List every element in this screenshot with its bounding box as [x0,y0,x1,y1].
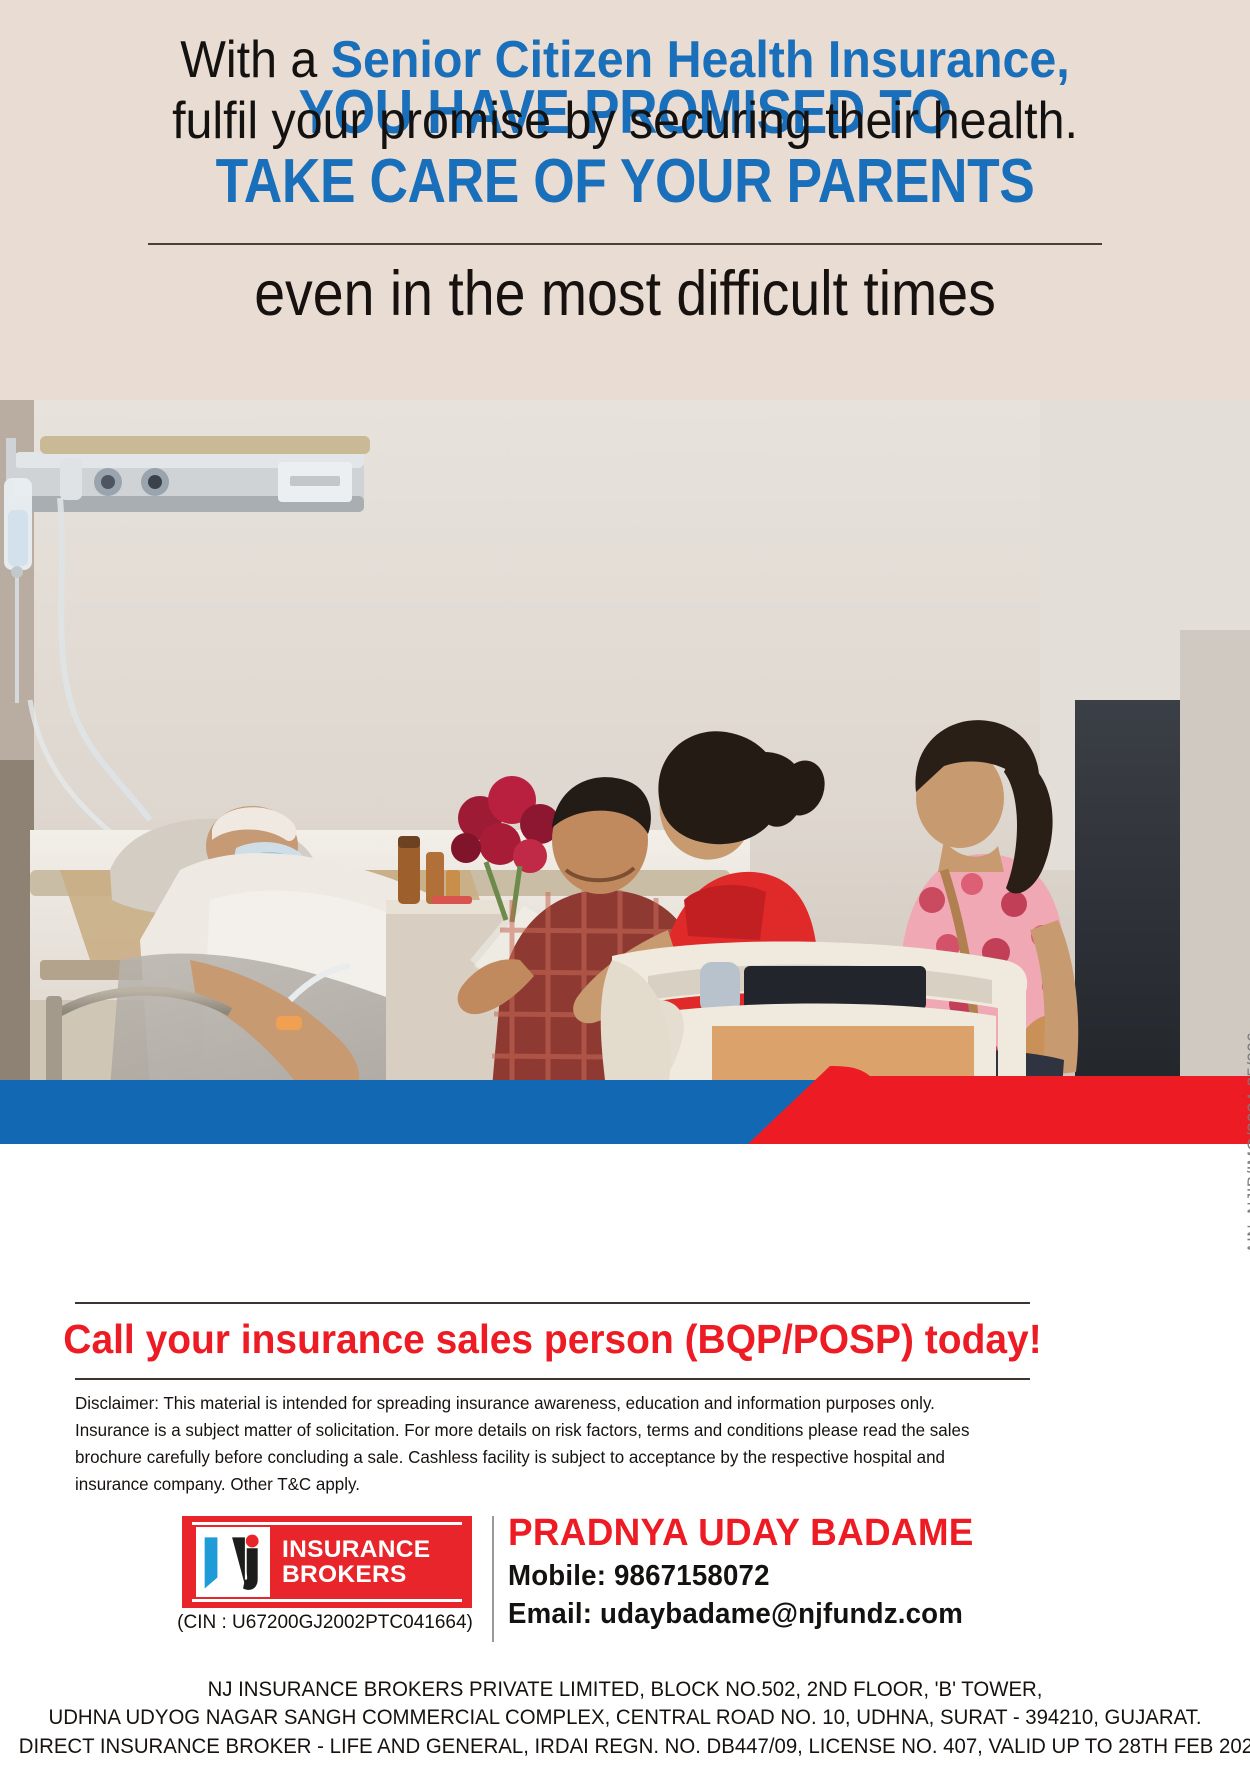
cin-number: (CIN : U67200GJ2002PTC041664) [160,1612,490,1634]
cta-divider [75,1378,1030,1380]
hospital-scene-illustration [0,400,1250,1088]
logo-rule-top [192,1522,462,1525]
company-address: NJ INSURANCE BROKERS PRIVATE LIMITED, BL… [19,1676,1232,1761]
banner-shapes [0,1066,1250,1150]
ain-code: AIN: NJIB/IMG/2024-25/006 [1244,1020,1250,1272]
contact-block: PRADNYA UDAY BADAME Mobile: 9867158072 E… [508,1512,1068,1631]
logo-rule-bottom [192,1599,462,1602]
contact-divider [492,1516,494,1642]
tagline-line-2: fulfil your promise by securing their he… [44,91,1207,152]
red-swoosh [748,1066,1250,1144]
insurance-poster: YOU HAVE PROMISED TO TAKE CARE OF YOUR P… [0,0,1250,1780]
nj-logo: INSURANCE BROKERS [182,1516,472,1608]
subheadline: even in the most difficult times [75,258,1175,330]
headline-line-2: TAKE CARE OF YOUR PARENTS [216,147,1035,216]
call-to-action: Call your insurance sales person (BQP/PO… [28,1316,1078,1363]
hospital-scene-photo [0,400,1250,1088]
logo-line-1: INSURANCE [282,1536,430,1563]
logo-line-2: BROKERS [282,1561,407,1588]
disclaimer-text: Disclaimer: This material is intended fo… [75,1390,997,1499]
agent-mobile[interactable]: Mobile: 9867158072 [508,1560,1051,1593]
tagline-prefix: With a [180,31,331,89]
agent-email[interactable]: Email: udaybadame@njfundz.com [508,1598,1051,1631]
address-line-2: UDHNA UDYOG NAGAR SANGH COMMERCIAL COMPL… [19,1704,1232,1732]
tagline-highlight: Senior Citizen Health Insurance, [331,31,1070,89]
nj-monogram-icon [196,1527,270,1597]
headline-divider [148,243,1102,245]
tagline: With a Senior Citizen Health Insurance, … [44,30,1207,152]
address-line-1: NJ INSURANCE BROKERS PRIVATE LIMITED, BL… [19,1676,1232,1704]
agent-name: PRADNYA UDAY BADAME [508,1512,1051,1555]
address-line-3: DIRECT INSURANCE BROKER - LIFE AND GENER… [19,1733,1232,1761]
color-banner [0,1066,1250,1150]
nj-monogram-svg [199,1530,267,1594]
tagline-divider [75,1302,1030,1304]
logo-red-box: INSURANCE BROKERS [182,1516,472,1608]
banner-base [0,1144,1250,1150]
logo-wordmark: INSURANCE BROKERS [282,1537,430,1588]
